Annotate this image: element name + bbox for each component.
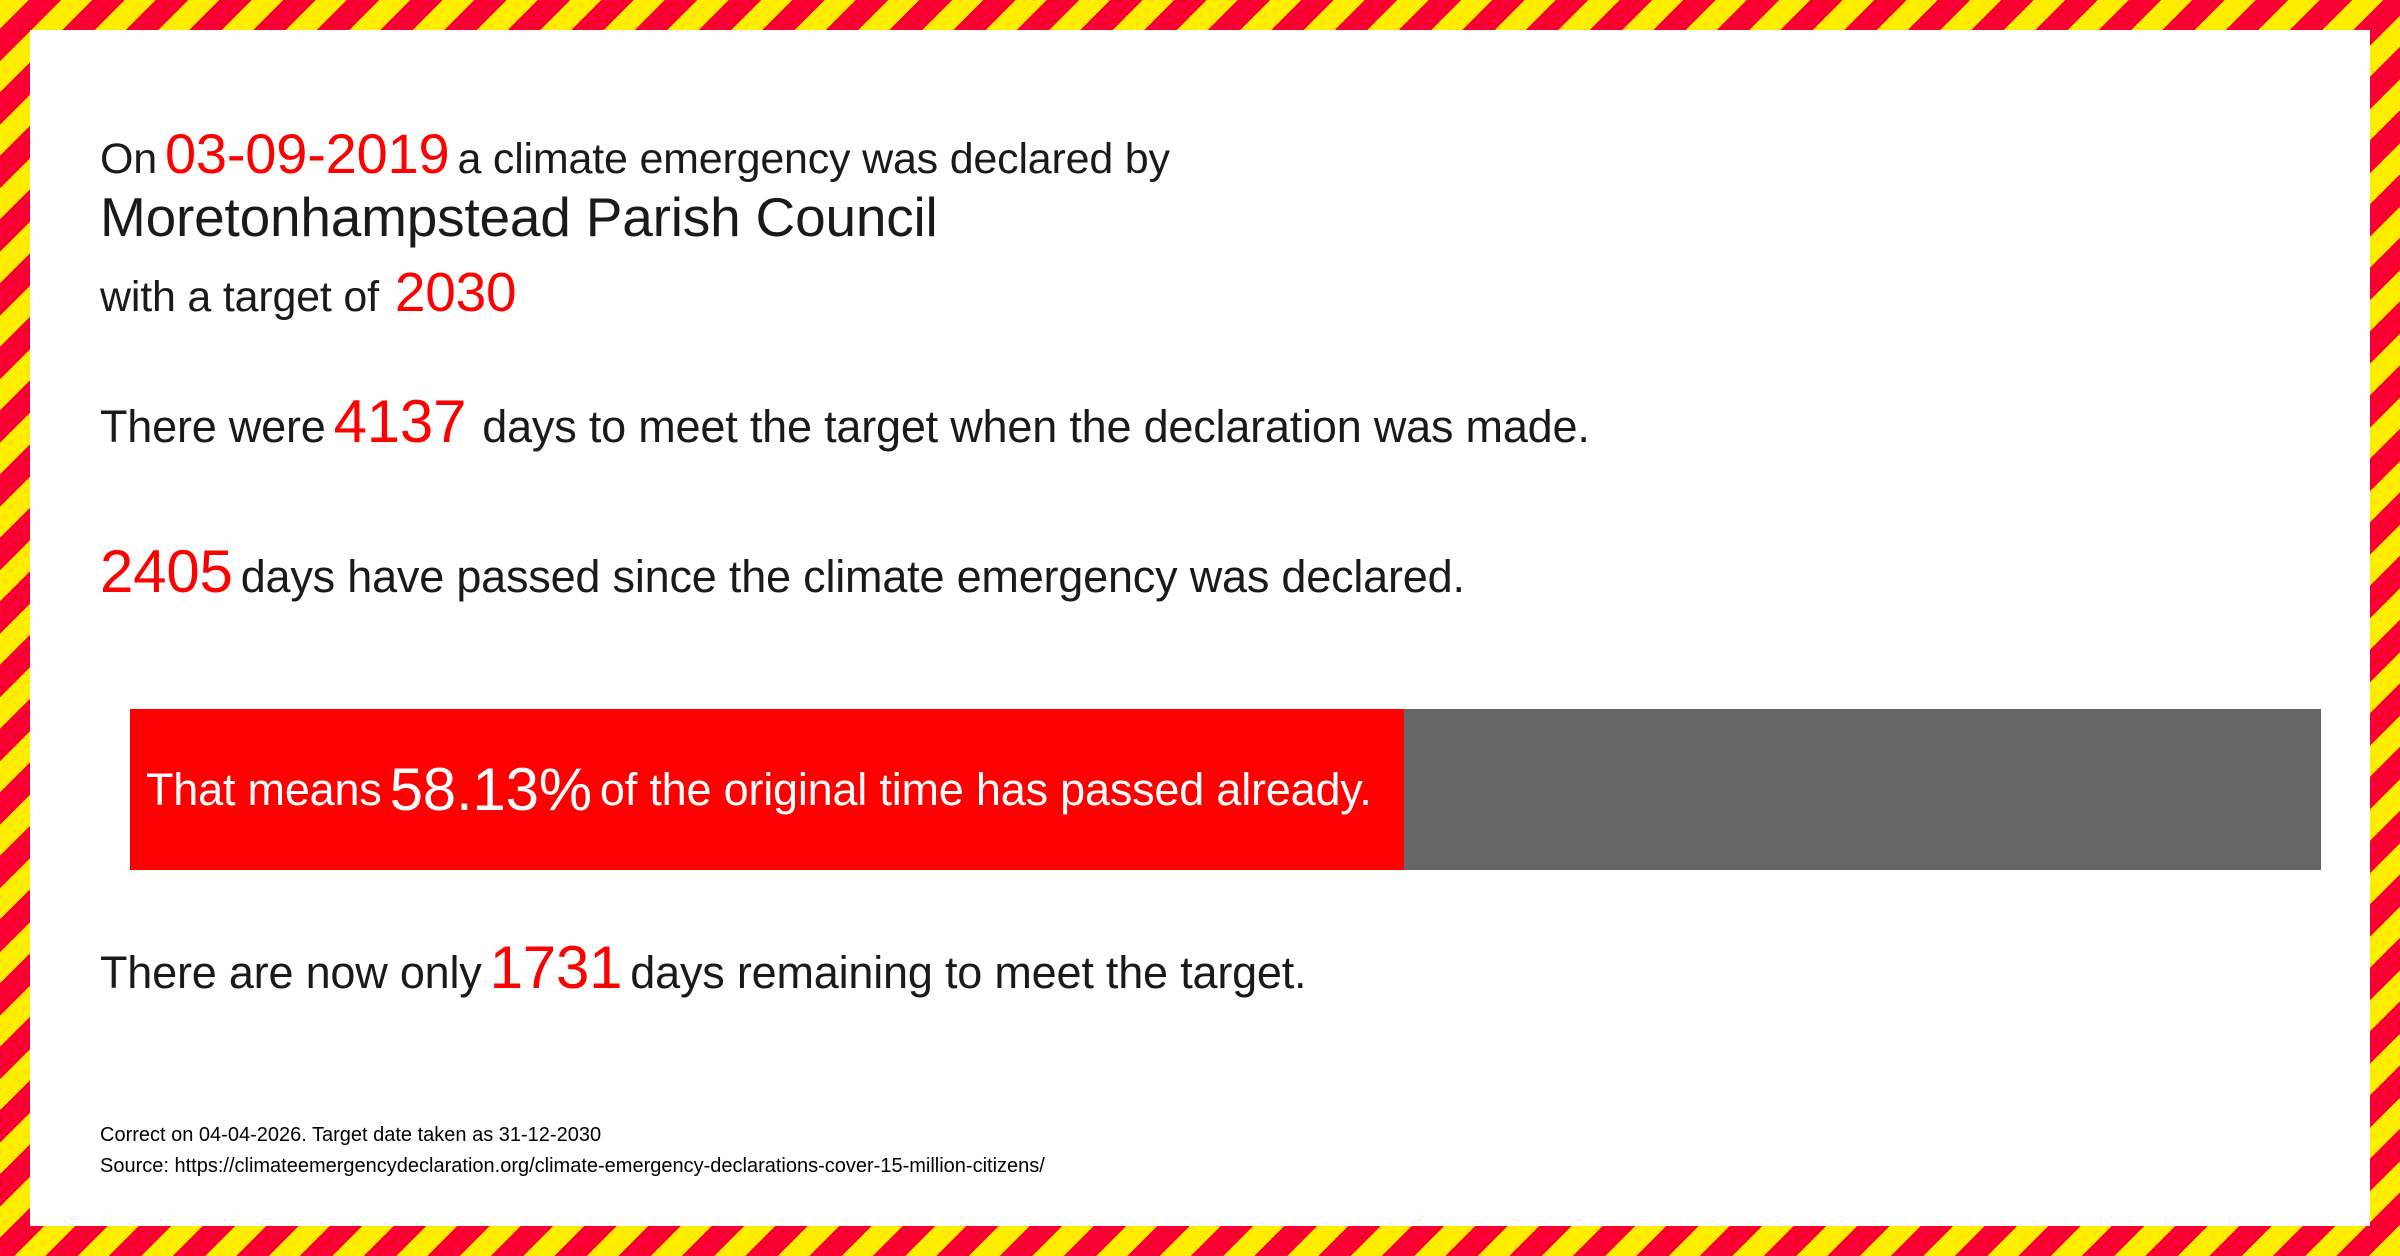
progress-suffix-text: of the original time has passed already. (600, 764, 1372, 816)
passed-suffix-text: days have passed since the climate emerg… (241, 551, 1465, 602)
days-passed-sentence: 2405days have passed since the climate e… (100, 542, 1465, 602)
progress-prefix-text: That means (146, 764, 382, 816)
remaining-suffix-text: days remaining to meet the target. (630, 947, 1306, 998)
elapsed-time-progress-bar: That means58.13%of the original time has… (130, 709, 2321, 870)
progress-percent-value: 58.13% (390, 755, 592, 824)
declaring-authority: Moretonhampstead Parish Council (100, 190, 938, 245)
content-card: On03-09-2019a climate emergency was decl… (30, 30, 2370, 1226)
progress-bar-label: That means58.13%of the original time has… (146, 709, 1372, 870)
were-prefix-text: There were (100, 401, 326, 452)
days-available-sentence: There were4137days to meet the target wh… (100, 392, 1590, 452)
declaration-sentence: On03-09-2019a climate emergency was decl… (100, 126, 1170, 182)
content-inner: On03-09-2019a climate emergency was decl… (100, 30, 2330, 1226)
days-passed-value: 2405 (100, 538, 233, 605)
target-year: 2030 (395, 261, 517, 323)
footnote-correctness-line: Correct on 04-04-2026. Target date taken… (100, 1120, 1045, 1151)
target-prefix-text: with a target of (100, 273, 379, 321)
declaration-prefix-text: On (100, 135, 157, 183)
remaining-prefix-text: There are now only (100, 947, 482, 998)
declaration-suffix-text: a climate emergency was declared by (457, 135, 1169, 183)
footnote: Correct on 04-04-2026. Target date taken… (100, 1120, 1045, 1182)
declaration-date: 03-09-2019 (165, 122, 449, 185)
days-to-target-value: 4137 (334, 388, 467, 455)
days-remaining-value: 1731 (490, 934, 623, 1001)
target-sentence: with a target of2030 (100, 265, 516, 320)
days-remaining-sentence: There are now only1731days remaining to … (100, 938, 1306, 998)
were-suffix-text: days to meet the target when the declara… (482, 401, 1589, 452)
footnote-source-line: Source: https://climateemergencydeclarat… (100, 1151, 1045, 1182)
